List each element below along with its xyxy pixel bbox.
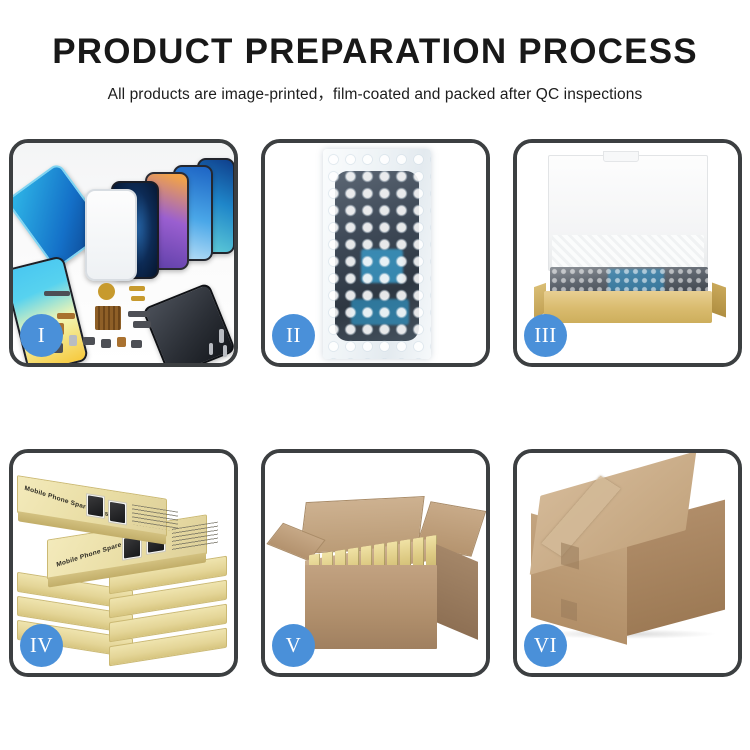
phone-back-internals (142, 282, 234, 363)
labeled-box-top: Mobile Phone Spare Parts (17, 475, 167, 537)
carton-right-side (436, 544, 478, 640)
vibrator-part (117, 337, 126, 347)
screen-photo (86, 493, 105, 519)
bubble-wrap-sheet (323, 149, 431, 359)
process-step-panel-4: Mobile Phone Spare Parts Mobile Phone Sp… (9, 449, 238, 677)
camera-module-part (69, 335, 77, 346)
process-step-panel-5: V (261, 449, 490, 677)
product-preparation-infographic: PRODUCT PREPARATION PROCESS All products… (0, 0, 750, 750)
small-part (131, 340, 142, 348)
box-lid-tab (603, 151, 639, 162)
process-step-grid: I II (9, 139, 742, 677)
screw-part (223, 345, 227, 357)
page-subtitle: All products are image-printed，film-coat… (0, 82, 750, 104)
box-front-panel (544, 291, 712, 323)
ribbon-part (128, 311, 150, 317)
screw-part (209, 343, 213, 355)
screen-photo (108, 500, 127, 526)
white-frame-glass-screen (85, 189, 137, 281)
step-badge-1: I (20, 314, 63, 357)
step-badge-6: VI (524, 624, 567, 667)
small-part (101, 339, 111, 348)
small-part (83, 337, 95, 345)
blue-film-highlight (608, 269, 664, 291)
carton-front-face (305, 565, 437, 649)
process-step-panel-3: III (513, 139, 742, 367)
screwdriver-tool (219, 329, 224, 343)
flex-cable-part (129, 286, 145, 291)
ribbon-part (133, 321, 151, 328)
bubble-texture (323, 149, 431, 359)
speaker-part (98, 283, 115, 300)
step-badge-3: III (524, 314, 567, 357)
page-title: PRODUCT PREPARATION PROCESS (0, 34, 750, 71)
earpiece-mesh-part (44, 291, 70, 296)
step-badge-5: V (272, 624, 315, 667)
connector-part (57, 313, 75, 319)
process-step-panel-1: I (9, 139, 238, 367)
step-badge-2: II (272, 314, 315, 357)
page-header: PRODUCT PREPARATION PROCESS All products… (0, 0, 750, 104)
flex-cable-part (131, 296, 145, 301)
process-step-panel-2: II (261, 139, 490, 367)
process-step-panel-6: VI (513, 449, 742, 677)
wrapped-units-row (550, 267, 708, 293)
chip-array-part (95, 306, 121, 330)
box-right-side (712, 282, 726, 317)
step-badge-4: IV (20, 624, 63, 667)
